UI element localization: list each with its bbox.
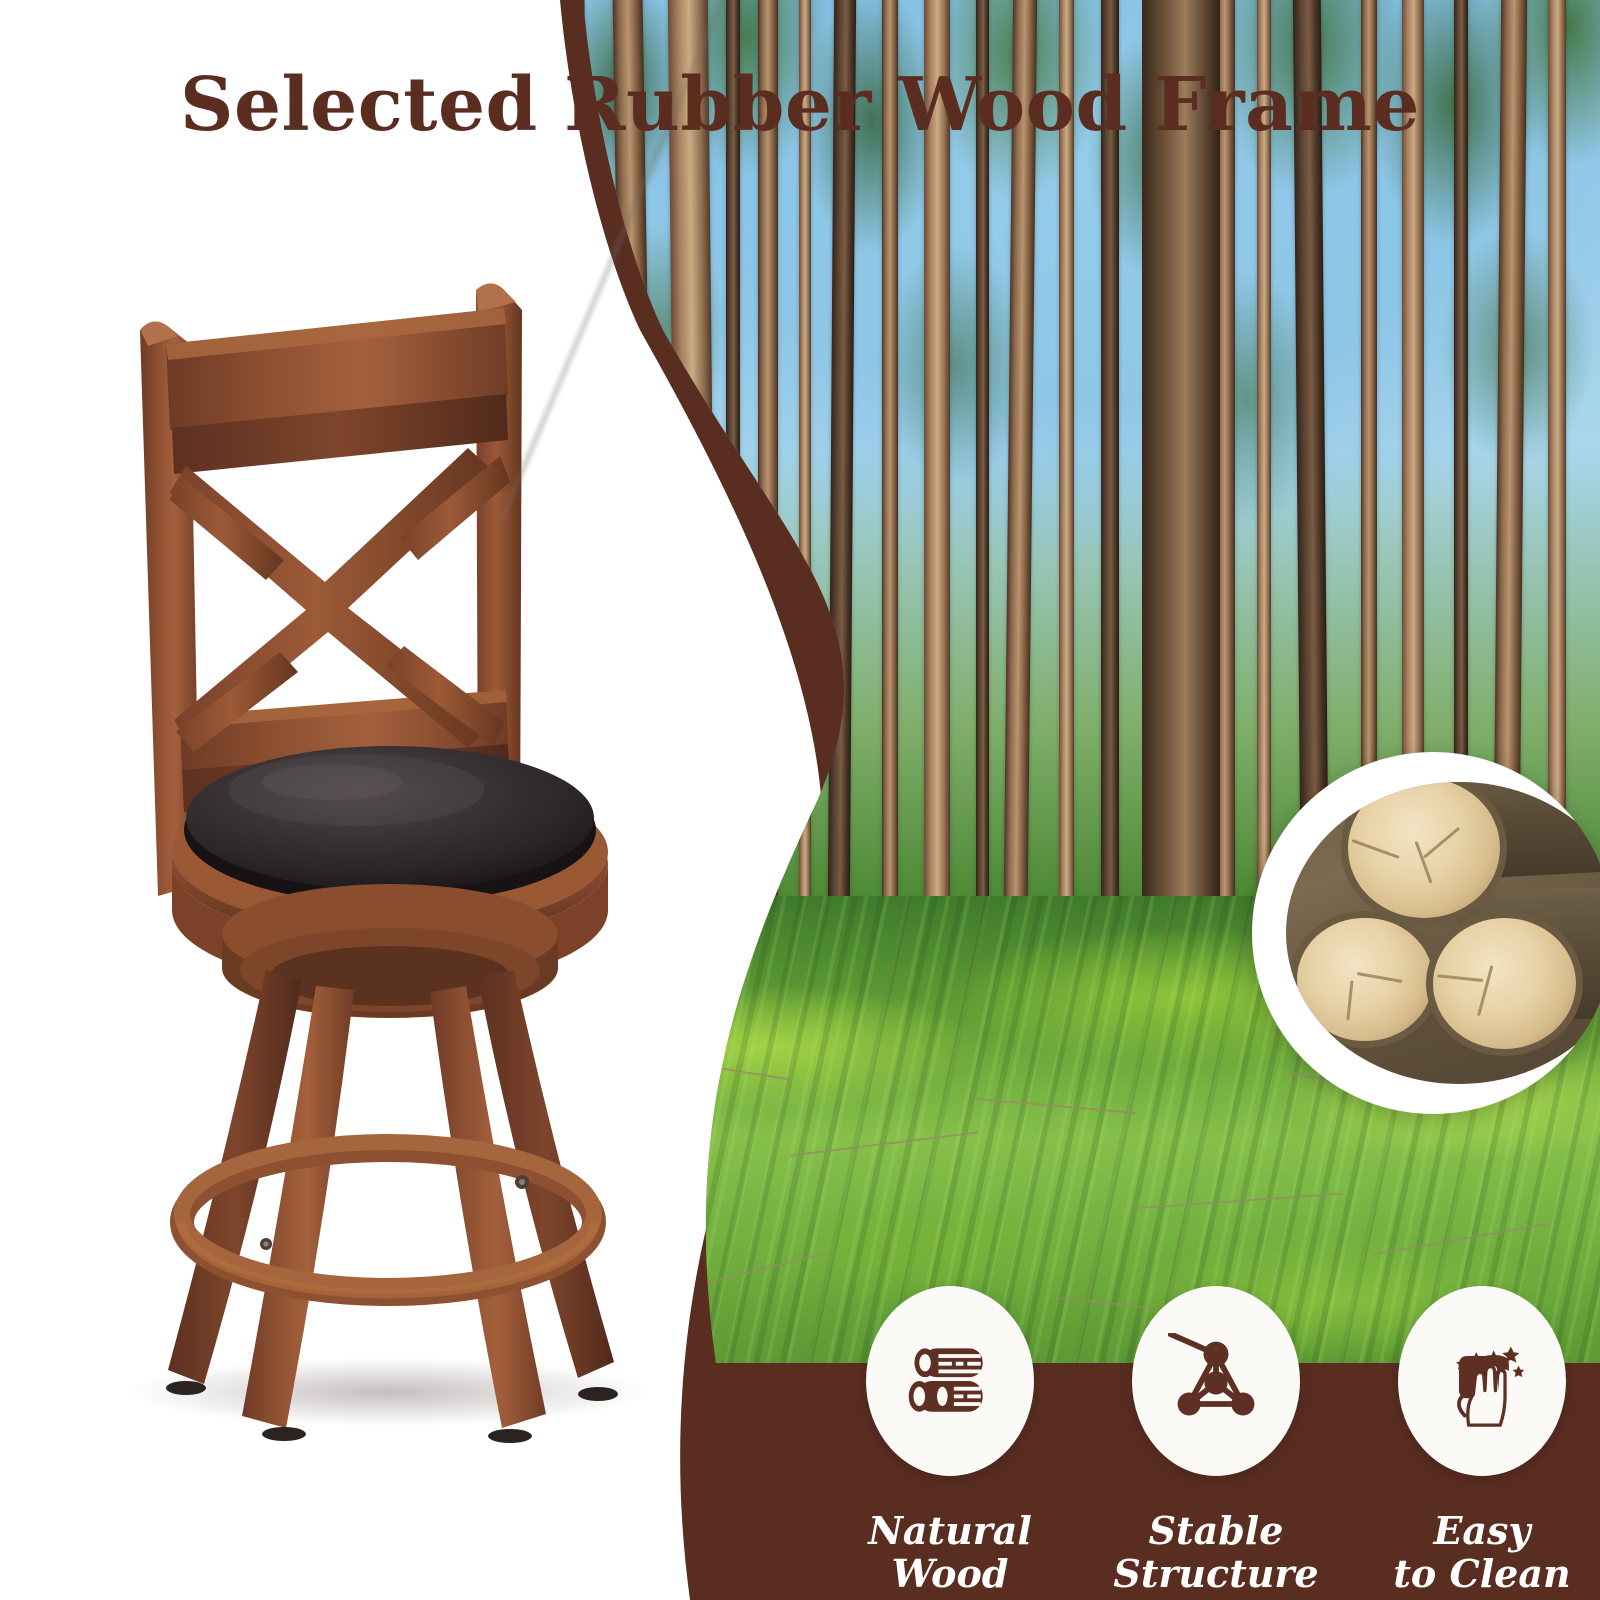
stacked-logs-icon [902, 1333, 998, 1429]
logs-image [1286, 782, 1600, 1084]
log-end-lower-right [1433, 918, 1577, 1049]
feature-label: Stable Structure [1113, 1510, 1318, 1595]
cut-logs-circle [1252, 752, 1600, 1114]
feature-label: Natural Wood Made [832, 1510, 1068, 1600]
feature-badge-circle [866, 1286, 1034, 1476]
feature-label-line1: Natural [868, 1508, 1032, 1553]
feature-label-line2: Structure [1113, 1551, 1318, 1596]
log-end-top [1348, 782, 1500, 918]
page-title: Selected Rubber Wood Frame [0, 62, 1600, 148]
feature-item-stable-structure[interactable]: Stable Structure [1098, 1286, 1334, 1595]
feature-label-line1: Stable [1149, 1508, 1284, 1553]
feature-badge-circle [1132, 1286, 1300, 1476]
product-marketing-banner: Selected Rubber Wood Frame [0, 0, 1600, 1600]
feature-item-natural-wood-made[interactable]: Natural Wood Made [832, 1286, 1068, 1600]
feature-label: Easy to Clean [1393, 1510, 1570, 1595]
hand-wipe-sparkle-icon [1434, 1333, 1530, 1429]
product-image-swivel-bar-stool [70, 270, 690, 1450]
pine-forest-photo [560, 0, 1600, 1400]
feature-item-easy-to-clean[interactable]: Easy to Clean [1364, 1286, 1600, 1595]
log-end-lower-left [1297, 918, 1432, 1042]
stool-illustration [70, 270, 690, 1450]
feature-badge-circle [1398, 1286, 1566, 1476]
cut-logs-photo [1286, 782, 1600, 1084]
feature-label-line1: Easy [1433, 1508, 1530, 1553]
truss-structure-icon [1168, 1333, 1264, 1429]
feature-label-line2: to Clean [1393, 1551, 1570, 1596]
feature-list: Natural Wood Made [832, 1286, 1600, 1600]
feature-label-line2: Wood Made [891, 1551, 1008, 1600]
